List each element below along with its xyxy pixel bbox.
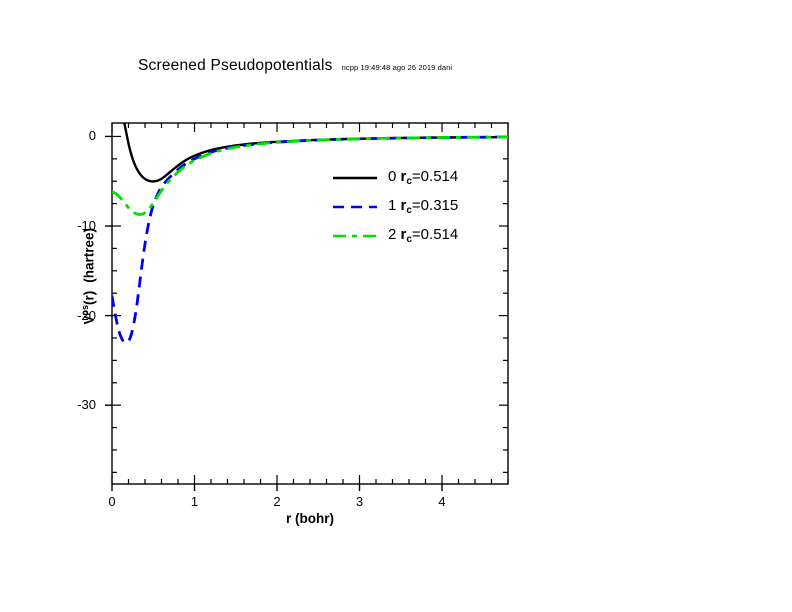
x-tick-label: 3 [345,495,375,508]
legend-swatch-0 [333,171,377,185]
y-tick-label: -10 [52,219,96,232]
x-tick-label: 2 [262,495,292,508]
legend-label-1: 1 rc=0.315 [388,197,458,216]
x-tick-label: 1 [180,495,210,508]
legend-swatch-1 [333,200,377,214]
plot-area [0,0,792,612]
legend-item: 2 rc=0.514 [333,221,458,250]
legend-item: 0 rc=0.514 [333,163,458,192]
y-tick-label: 0 [52,129,96,142]
y-tick-label: -20 [52,309,96,322]
plot-canvas: Screened Pseudopotentials ncpp 19:49:48 … [0,0,792,612]
legend-label-2: 2 rc=0.514 [388,226,458,245]
legend-swatch-2 [333,229,377,243]
y-tick-label: -30 [52,398,96,411]
x-tick-label: 4 [427,495,457,508]
legend-label-0: 0 rc=0.514 [388,168,458,187]
legend-item: 1 rc=0.315 [333,192,458,221]
legend: 0 rc=0.514 1 rc=0.315 2 rc=0.514 [333,163,458,250]
x-tick-label: 0 [97,495,127,508]
